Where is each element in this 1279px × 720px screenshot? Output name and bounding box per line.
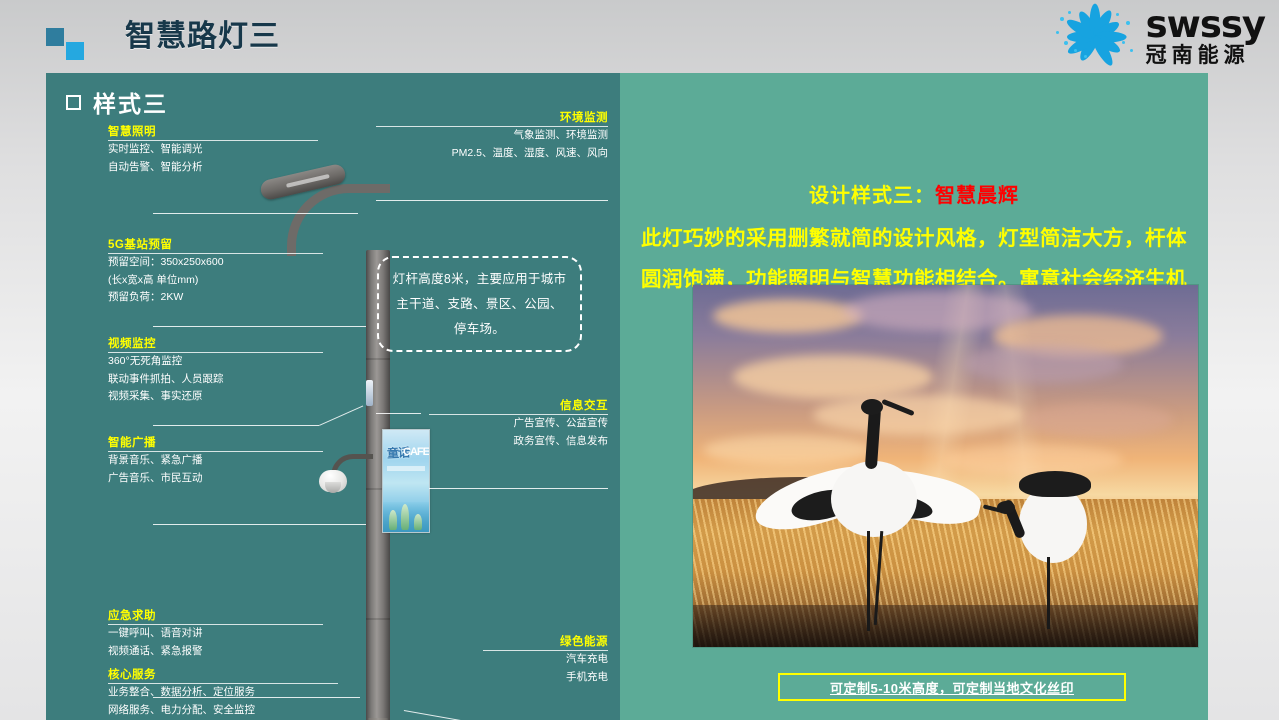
brand-name-en: swssy <box>1146 6 1265 44</box>
label-group-emergency: 应急求助 一键呼叫、语音对讲 视频通话、紧急报警 <box>108 607 323 660</box>
label-group-core-service: 核心服务 业务整合、数据分析、定位服务 网络服务、电力分配、安全监控 <box>108 666 338 719</box>
label-title: 智慧照明 <box>108 123 318 139</box>
design-style-title: 设计样式三：智慧晨辉 <box>620 179 1208 208</box>
label-row: 一键呼叫、语音对讲 <box>108 625 323 643</box>
label-row: 汽车充电 <box>483 651 608 669</box>
ad-text-en: CAFE <box>403 446 429 458</box>
label-row: 预留空间：350x250x600 <box>108 254 323 272</box>
customization-caption-text: 可定制5-10米高度，可定制当地文化丝印 <box>830 678 1074 697</box>
label-group-environment: 环境监测 气象监测、环境监测 PM2.5、温度、湿度、风速、风向 <box>376 109 608 162</box>
callout-text: 灯杆高度8米，主要应用于城市主干道、支路、景区、公园、停车场。 <box>379 267 580 342</box>
connector-line <box>376 413 421 414</box>
led-display-panel: 童话 CAFE <box>382 429 430 533</box>
connector-line <box>153 425 319 426</box>
label-title: 信息交互 <box>429 397 608 413</box>
label-row: PM2.5、温度、湿度、风速、风向 <box>376 145 608 163</box>
brand-name-cn: 冠南能源 <box>1146 44 1265 68</box>
connector-line <box>153 524 366 525</box>
label-title: 绿色能源 <box>483 633 608 649</box>
flower-petals-icon <box>1054 7 1136 67</box>
customization-caption: 可定制5-10米高度，可定制当地文化丝印 <box>778 673 1126 701</box>
slide-header: 智慧路灯三 swssy 冠南能源 <box>0 0 1279 73</box>
label-group-info: 信息交互 广告宣传、公益宣传 政务宣传、信息发布 <box>429 397 608 450</box>
label-group-lighting: 智慧照明 实时监控、智能调光 自动告警、智能分析 <box>108 123 318 176</box>
label-row: 网络服务、电力分配、安全监控 <box>108 702 338 720</box>
label-title: 环境监测 <box>376 109 608 125</box>
left-content-panel: 样式三 童话 CAFE <box>46 73 620 720</box>
square-bullet-icon <box>66 95 81 110</box>
panel-heading: 样式三 <box>66 85 168 119</box>
5g-module-icon <box>366 380 373 406</box>
label-title: 应急求助 <box>108 607 323 623</box>
callout-box: 灯杆高度8米，主要应用于城市主干道、支路、景区、公园、停车场。 <box>377 256 582 352</box>
brand-logo: swssy 冠南能源 <box>1054 6 1265 68</box>
label-row: 政务宣传、信息发布 <box>429 433 608 451</box>
connector-line <box>429 488 608 489</box>
label-row: 视频采集、事实还原 <box>108 388 323 406</box>
label-title: 视频监控 <box>108 335 323 351</box>
label-group-green-energy: 绿色能源 汽车充电 手机充电 <box>483 633 608 686</box>
design-style-prefix: 设计样式三： <box>809 185 935 207</box>
label-row: 广告音乐、市民互动 <box>108 470 323 488</box>
connector-line <box>153 213 358 214</box>
connector-line <box>153 326 366 327</box>
label-row: 背景音乐、紧急广播 <box>108 452 323 470</box>
page-title: 智慧路灯三 <box>125 18 280 56</box>
label-row: 业务整合、数据分析、定位服务 <box>108 684 338 702</box>
label-group-video: 视频监控 360°无死角监控 联动事件抓拍、人员跟踪 视频采集、事实还原 <box>108 335 323 406</box>
label-row: 广告宣传、公益宣传 <box>429 415 608 433</box>
label-row: 实时监控、智能调光 <box>108 141 318 159</box>
crane-sunset-photo <box>693 285 1198 647</box>
label-row: 气象监测、环境监测 <box>376 127 608 145</box>
label-group-5g: 5G基站预留 预留空间：350x250x600 (长x宽x高 单位mm) 预留负… <box>108 236 323 307</box>
label-title: 5G基站预留 <box>108 236 323 252</box>
crane-bird-left <box>753 415 993 635</box>
label-row: 手机充电 <box>483 669 608 687</box>
label-row: 自动告警、智能分析 <box>108 159 318 177</box>
cctv-camera-icon <box>319 470 347 492</box>
design-style-accent: 智慧晨辉 <box>935 185 1019 207</box>
label-row: 视频通话、紧急报警 <box>108 643 323 661</box>
connector-line <box>376 200 608 201</box>
label-group-broadcast: 智能广播 背景音乐、紧急广播 广告音乐、市民互动 <box>108 434 323 487</box>
label-row: 360°无死角监控 <box>108 353 323 371</box>
label-title: 核心服务 <box>108 666 338 682</box>
label-row: 联动事件抓拍、人员跟踪 <box>108 371 323 389</box>
decor-squares-icon <box>46 28 88 62</box>
crane-bird-right <box>993 465 1113 635</box>
label-row: 预留负荷：2KW <box>108 289 323 307</box>
label-title: 智能广播 <box>108 434 323 450</box>
slide-root: 智慧路灯三 swssy 冠南能源 样式三 童话 <box>0 0 1279 720</box>
panel-heading-label: 样式三 <box>93 85 168 119</box>
label-row: (长x宽x高 单位mm) <box>108 272 323 290</box>
